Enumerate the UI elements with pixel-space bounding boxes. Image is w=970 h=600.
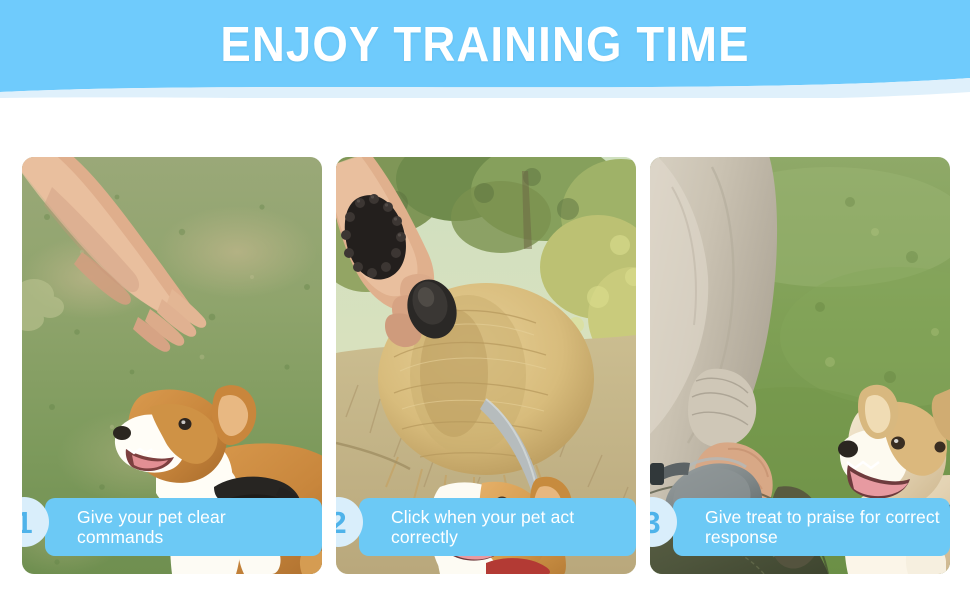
step-caption-2: Click when your pet act correctly bbox=[359, 498, 636, 556]
step-caption-1: Give your pet clear commands bbox=[45, 498, 322, 556]
step-panel-2[interactable]: 2 Click when your pet act correctly bbox=[336, 157, 636, 574]
step-caption-3: Give treat to praise for correct respons… bbox=[673, 498, 950, 556]
steps-row: 1 Give your pet clear commands bbox=[22, 157, 950, 574]
step-caption-text-3: Give treat to praise for correct respons… bbox=[673, 507, 950, 547]
page-title: ENJOY TRAINING TIME bbox=[34, 17, 936, 73]
step-2-caption-wrap: 2 Click when your pet act correctly bbox=[336, 498, 636, 556]
header-banner: ENJOY TRAINING TIME bbox=[0, 0, 970, 98]
step-1-caption-wrap: 1 Give your pet clear commands bbox=[22, 498, 322, 556]
promo-infographic: ENJOY TRAINING TIME bbox=[0, 0, 970, 600]
step-panel-1[interactable]: 1 Give your pet clear commands bbox=[22, 157, 322, 574]
step-caption-text-1: Give your pet clear commands bbox=[45, 507, 322, 547]
step-caption-text-2: Click when your pet act correctly bbox=[359, 507, 636, 547]
step-panel-3[interactable]: 3 Give treat to praise for correct respo… bbox=[650, 157, 950, 574]
step-3-caption-wrap: 3 Give treat to praise for correct respo… bbox=[650, 498, 950, 556]
